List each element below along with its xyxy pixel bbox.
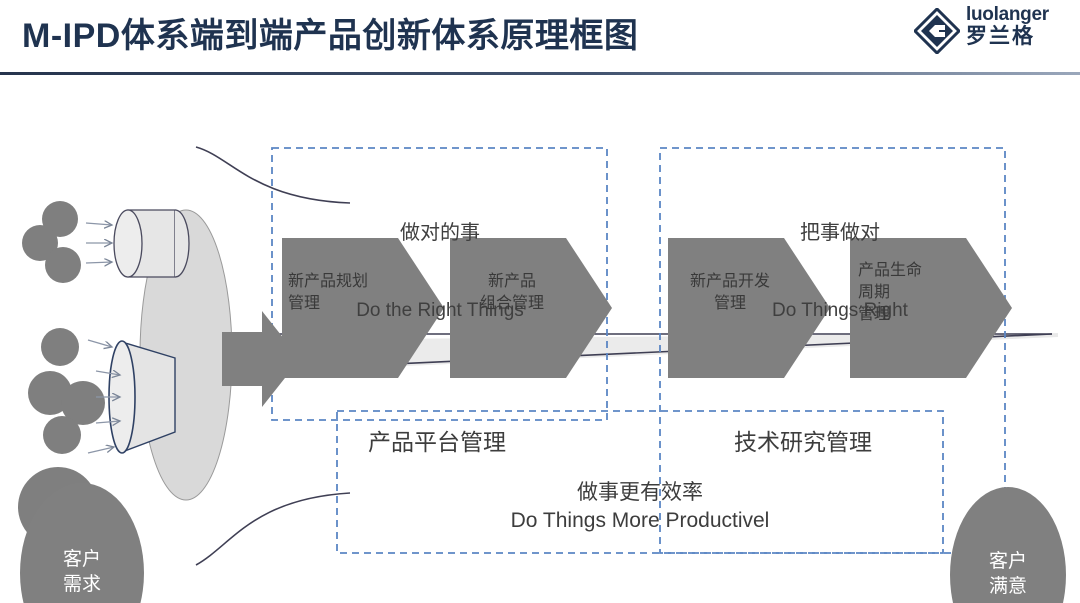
- bottom-caption: 做事更有效率 Do Things More Productivel: [330, 479, 950, 535]
- group-title-cn: 做对的事: [300, 220, 580, 246]
- page-title: M-IPD体系端到端产品创新体系原理框图: [22, 8, 638, 57]
- stage-label-product-lifecycle-management: 产品生命 周期 管理: [858, 260, 978, 326]
- customer-need-label: 客户 需求: [22, 547, 142, 597]
- stage-label-new-product-portfolio-management: 新产品 组合管理: [452, 271, 572, 315]
- diagram-canvas: 做对的事 Do the Right Things 把事做对 Do Things …: [0, 75, 1080, 603]
- customer-satisfaction-label: 客户 满意: [948, 549, 1068, 599]
- logo-text-cn: 罗兰格: [966, 25, 1072, 49]
- logo-wordmark: luolanger 罗兰格: [966, 4, 1072, 49]
- logo-text-en: luolanger: [966, 4, 1072, 25]
- stage-label-new-product-development-management: 新产品开发 管理: [670, 271, 790, 315]
- bottom-caption-cn: 做事更有效率: [330, 479, 950, 507]
- cylinder-shape-icon: [114, 210, 189, 277]
- band-title-technology-research-management: 技术研究管理: [734, 423, 872, 457]
- brand-logo: luolanger 罗兰格: [914, 4, 1072, 60]
- band-title-product-platform-management: 产品平台管理: [368, 423, 506, 457]
- bottom-caption-en: Do Things More Productivel: [330, 507, 950, 535]
- page-header: M-IPD体系端到端产品创新体系原理框图 luolanger 罗兰格: [0, 0, 1080, 72]
- stage-label-new-product-planning-management: 新产品规划 管理: [288, 271, 408, 315]
- diamond-g-logo-icon: [914, 8, 960, 54]
- group-title-cn: 把事做对: [700, 220, 980, 246]
- gray-dot-icon: [22, 201, 81, 283]
